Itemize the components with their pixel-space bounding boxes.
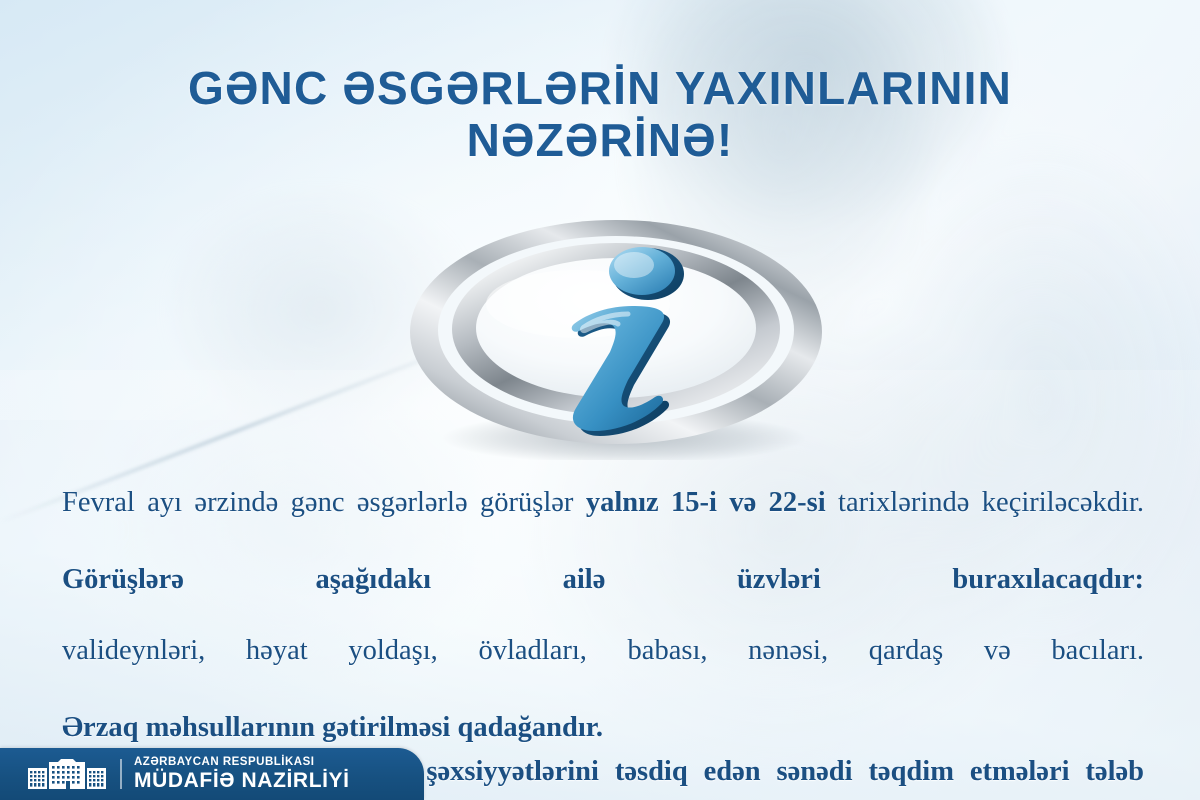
headline-line-1: GƏNC ƏSGƏRLƏRİN YAXINLARININ [0, 62, 1200, 114]
poster-canvas: GƏNC ƏSGƏRLƏRİN YAXINLARININ NƏZƏRİNƏ! [0, 0, 1200, 800]
body-p1-part2: tarixlərində keçiriləcəkdir. [826, 487, 1144, 518]
information-icon-graphic [396, 212, 836, 460]
ministry-name-line-1: AZƏRBAYCAN RESPUBLİKASI [134, 756, 350, 769]
ministry-name-line-2: MÜDAFİƏ NAZİRLİYİ [134, 769, 350, 792]
body-paragraph-3: Ərzaq məhsullarının gətirilməsi qadağand… [62, 711, 1144, 744]
body-p1-dates: yalnız 15-i və 22-si [586, 487, 826, 518]
body-p1-part1: Fevral ayı ərzində gənc əsgərlərlə görüş… [62, 487, 586, 518]
ministry-logo-text: AZƏRBAYCAN RESPUBLİKASI MÜDAFİƏ NAZİRLİY… [134, 756, 350, 792]
ministry-logo-bar: AZƏRBAYCAN RESPUBLİKASI MÜDAFİƏ NAZİRLİY… [0, 748, 424, 800]
headline-line-2: NƏZƏRİNƏ! [0, 114, 1200, 166]
information-icon [396, 212, 836, 460]
poster-headline: GƏNC ƏSGƏRLƏRİN YAXINLARININ NƏZƏRİNƏ! [0, 62, 1200, 166]
logo-divider [120, 759, 122, 789]
body-paragraph-1: Fevral ayı ərzində gənc əsgərlərlə görüş… [62, 486, 1144, 552]
body-paragraph-2-heading: Görüşlərə aşağıdakı ailə üzvləri buraxıl… [62, 563, 1144, 629]
body-paragraph-2-list: valideynləri, həyat yoldaşı, övladları, … [62, 634, 1144, 700]
ministry-building-icon [28, 759, 106, 789]
